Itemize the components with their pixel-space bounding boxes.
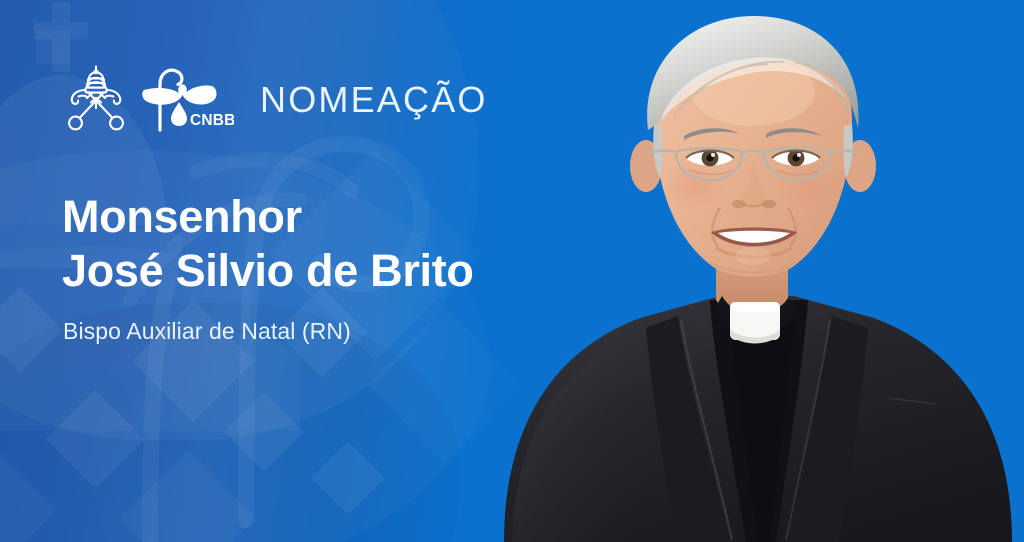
subtitle-text: Bispo Auxiliar de Natal (RN) [63, 318, 351, 345]
portrait-photo [464, 0, 1024, 542]
face [630, 16, 876, 277]
vatican-coat-of-arms-icon [60, 62, 132, 138]
logo-row: CNBB NOMEAÇÃO [60, 62, 488, 138]
nomeacao-banner: CNBB NOMEAÇÃO Monsenhor José Silvio de B… [0, 0, 1024, 542]
cnbb-wordmark: CNBB [190, 112, 234, 129]
nomeacao-label: NOMEAÇÃO [260, 82, 488, 118]
cnbb-logo-icon: CNBB [138, 62, 234, 138]
